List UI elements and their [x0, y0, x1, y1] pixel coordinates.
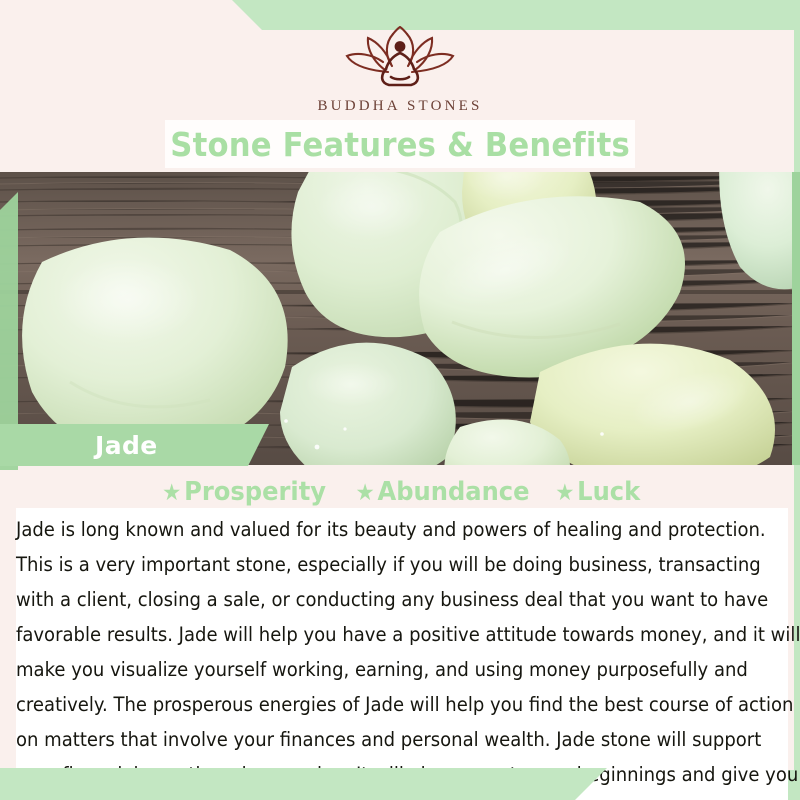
stone-name: Jade: [95, 431, 158, 460]
description-line: make you visualize yourself working, ear…: [16, 652, 726, 687]
description-line: Jade is long known and valued for its be…: [16, 512, 726, 547]
benefit-label: Abundance: [377, 477, 529, 507]
right-green-band: [792, 172, 800, 465]
page-title: Stone Features & Benefits: [170, 125, 630, 164]
star-icon: ★: [556, 480, 575, 506]
description-line: creatively. The prosperous energies of J…: [16, 687, 726, 722]
benefit-abundance: ★Abundance: [355, 477, 529, 507]
star-icon: ★: [355, 480, 374, 506]
stone-description: Jade is long known and valued for its be…: [16, 508, 788, 800]
bottom-green-band: [0, 768, 575, 800]
stone-info-card: BUDDHA STONES Stone Features & Benefits: [0, 0, 800, 800]
description-line: favorable results. Jade will help you ha…: [16, 617, 726, 652]
benefit-prosperity: ★Prosperity: [162, 477, 326, 507]
lotus-meditation-icon: [325, 26, 475, 94]
description-line: with a client, closing a sale, or conduc…: [16, 582, 726, 617]
brand-logo: BUDDHA STONES: [0, 26, 800, 115]
description-line: on matters that involve your finances an…: [16, 722, 726, 757]
brand-name: BUDDHA STONES: [0, 98, 800, 115]
benefit-label: Luck: [578, 477, 641, 507]
benefit-luck: ★Luck: [556, 477, 641, 507]
title-banner: Stone Features & Benefits: [165, 120, 635, 168]
benefits-row: ★Prosperity ★Abundance ★Luck: [0, 477, 800, 507]
star-icon: ★: [162, 480, 181, 506]
stone-name-tag: Jade: [0, 424, 248, 466]
benefit-label: Prosperity: [184, 477, 326, 507]
description-line: This is a very important stone, especial…: [16, 547, 726, 582]
stone-photo: [0, 172, 800, 465]
